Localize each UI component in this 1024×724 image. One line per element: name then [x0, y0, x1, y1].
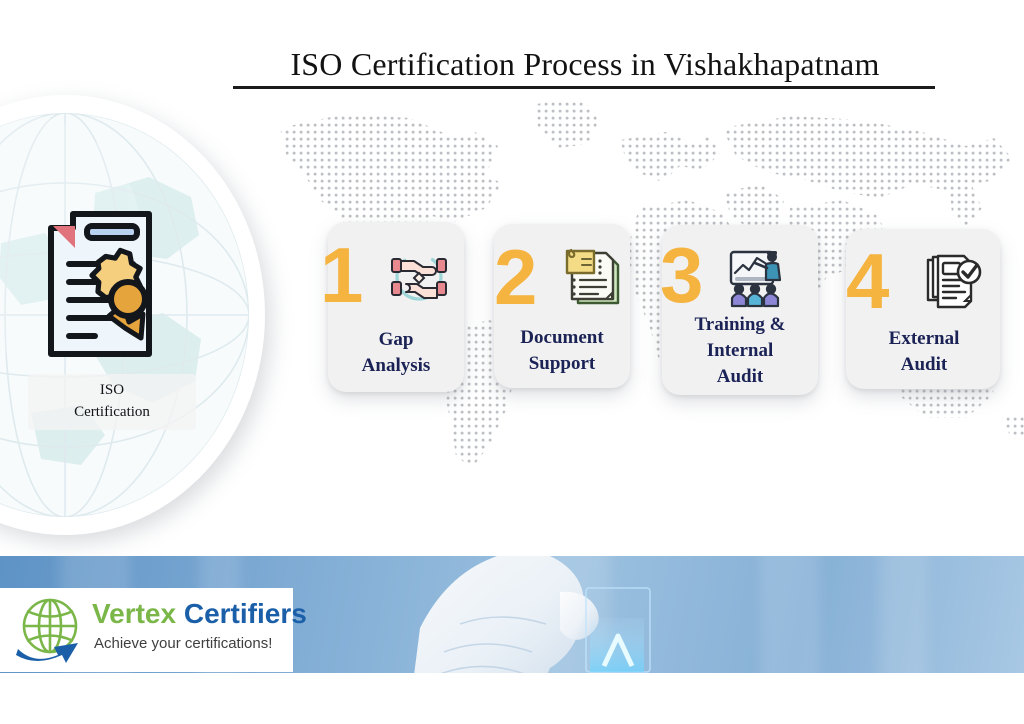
step-label-3: Training & Internal Audit [662, 312, 818, 391]
step-number-2: 2 [494, 238, 537, 316]
band-stripe [880, 556, 928, 673]
iso-label-line1: ISO [36, 380, 188, 402]
step-label-1: Gap Analysis [330, 327, 462, 379]
step-label-1-line1: Gap [330, 327, 462, 353]
vertex-globe-arrow-logo [12, 595, 92, 665]
handshake-icon [388, 246, 450, 308]
step-label-3-line3: Audit [662, 364, 818, 390]
iso-label-line2: Certification [36, 402, 188, 424]
step-number-3: 3 [660, 236, 703, 314]
brand-name-second: Certifiers [184, 598, 307, 629]
step-label-3-line1: Training & [662, 312, 818, 338]
document-stack-check-icon [922, 252, 984, 314]
iso-certification-label: ISO Certification [28, 374, 196, 430]
step-label-2-line2: Support [492, 351, 632, 377]
brand-name: Vertex Certifiers [92, 600, 307, 628]
brand-tagline: Achieve your certifications! [94, 635, 272, 652]
iso-certificate-icon [43, 208, 165, 360]
step-label-4-line2: Audit [848, 352, 1000, 378]
step-number-4: 4 [846, 242, 889, 320]
step-label-1-line2: Analysis [330, 353, 462, 379]
training-presentation-icon [726, 246, 788, 308]
step-label-2-line1: Document [492, 325, 632, 351]
brand-logo[interactable]: Vertex Certifiers Achieve your certifica… [0, 588, 293, 672]
step-number-1: 1 [320, 236, 363, 314]
step-label-4-line1: External [848, 326, 1000, 352]
band-stripe [760, 556, 820, 673]
step-label-4: External Audit [848, 326, 1000, 378]
documents-icon [560, 247, 622, 309]
hand-touching-screen-image [400, 556, 700, 673]
step-label-2: Document Support [492, 325, 632, 377]
title-underline [233, 86, 935, 89]
page-title: ISO Certification Process in Vishakhapat… [232, 46, 938, 83]
brand-name-first: Vertex [92, 598, 176, 629]
infographic-canvas: ISO Certification Process in Vishakhapat… [0, 0, 1024, 724]
step-label-3-line2: Internal [662, 338, 818, 364]
